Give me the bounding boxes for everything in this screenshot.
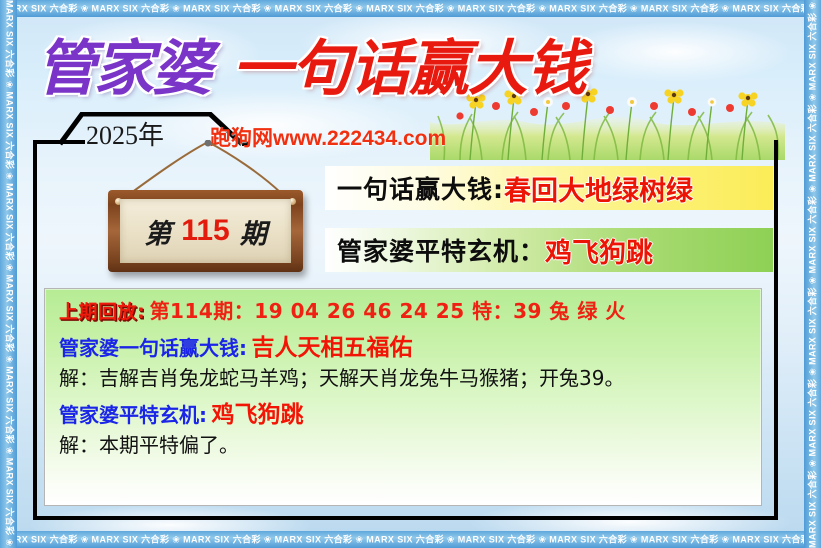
- recap-label: 上期回放:: [59, 301, 145, 323]
- row-pingte-label: 管家婆平特玄机:: [59, 403, 207, 427]
- border-top-text: MARX SIX 六合彩 ❀ MARX SIX 六合彩 ❀ MARX SIX 六…: [0, 4, 821, 13]
- row-slogan-explain: 解：吉解吉肖兔龙蛇马羊鸡；天解天肖龙兔牛马猴猪；开兔39。: [59, 365, 747, 391]
- banner-pingte-value: 鸡飞狗跳: [545, 231, 653, 270]
- row-slogan-label: 管家婆一句话赢大钱:: [59, 336, 247, 360]
- border-left: MARX SIX 六合彩 ❀ MARX SIX 六合彩 ❀ MARX SIX 六…: [0, 0, 17, 548]
- border-bottom: MARX SIX 六合彩 ❀ MARX SIX 六合彩 ❀ MARX SIX 六…: [0, 531, 821, 548]
- row-pingte-title: 管家婆平特玄机: 鸡飞狗跳: [59, 400, 747, 430]
- content-panel: 上期回放: 第114期：19 04 26 46 24 25 特：39 兔 绿 火…: [44, 288, 762, 506]
- border-right: MARX SIX 六合彩 ❀ MARX SIX 六合彩 ❀ MARX SIX 六…: [804, 0, 821, 548]
- page-root: 管家婆 一句话赢大钱 跑狗网www.222434.com 2025年 第 115…: [0, 0, 821, 548]
- recap-value: 第114期：19 04 26 46 24 25 特：39 兔 绿 火: [150, 299, 626, 323]
- issue-prefix: 第: [144, 212, 171, 251]
- row-pingte-explain: 解：本期平特偏了。: [59, 432, 747, 458]
- title-brand: 管家婆: [36, 39, 210, 99]
- row-slogan-title: 管家婆一句话赢大钱: 吉人天相五福佑: [59, 333, 747, 363]
- title-slogan: 一句话赢大钱: [232, 39, 586, 99]
- issue-suffix: 期: [240, 212, 267, 251]
- banner-slogan: 一句话赢大钱: 春回大地绿树绿: [325, 166, 773, 210]
- row-slogan-value: 吉人天相五福佑: [251, 335, 412, 361]
- border-left-text: MARX SIX 六合彩 ❀ MARX SIX 六合彩 ❀ MARX SIX 六…: [4, 0, 13, 548]
- year-label: 2025年: [86, 115, 164, 152]
- banner-pingte-label: 管家婆平特玄机：: [337, 232, 545, 268]
- recap-line: 上期回放: 第114期：19 04 26 46 24 25 特：39 兔 绿 火: [59, 298, 747, 325]
- border-right-text: MARX SIX 六合彩 ❀ MARX SIX 六合彩 ❀ MARX SIX 六…: [808, 0, 817, 548]
- border-top: MARX SIX 六合彩 ❀ MARX SIX 六合彩 ❀ MARX SIX 六…: [0, 0, 821, 17]
- sign-paper: 第 115 期: [120, 199, 291, 263]
- issue-sign: 第 115 期: [85, 140, 325, 280]
- banner-pingte: 管家婆平特玄机： 鸡飞狗跳: [325, 228, 773, 272]
- sign-board: 第 115 期: [108, 190, 303, 272]
- border-bottom-text: MARX SIX 六合彩 ❀ MARX SIX 六合彩 ❀ MARX SIX 六…: [0, 535, 821, 544]
- banner-slogan-value: 春回大地绿树绿: [504, 169, 693, 208]
- banner-slogan-label: 一句话赢大钱:: [337, 170, 504, 206]
- issue-number: 115: [181, 214, 229, 248]
- main-title: 管家婆 一句话赢大钱: [36, 26, 676, 112]
- row-pingte-value: 鸡飞狗跳: [211, 402, 303, 428]
